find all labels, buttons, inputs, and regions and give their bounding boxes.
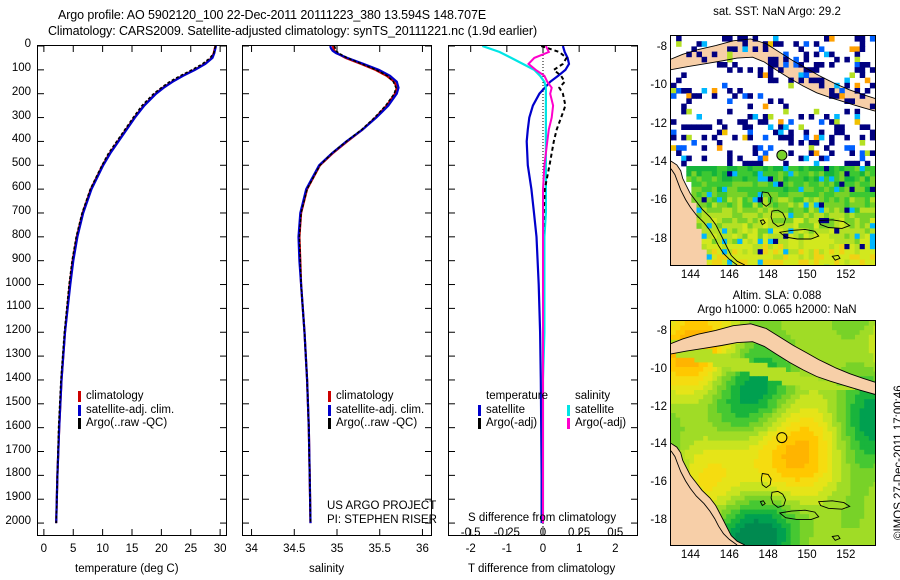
sla-map-svg bbox=[671, 321, 875, 545]
legend-item-argo-salinity: Argo(..raw -QC) bbox=[328, 417, 424, 431]
legend-label-argo: Argo(..raw -QC) bbox=[86, 417, 167, 431]
legend-item-salinity-argo: Argo(-adj) bbox=[567, 417, 626, 431]
legend-label-argo: Argo(..raw -QC) bbox=[336, 417, 417, 431]
sst-map-panel bbox=[670, 35, 876, 266]
sst-map-svg bbox=[671, 36, 875, 265]
sla-map-title-line1: Altim. SLA: 0.088 bbox=[672, 290, 882, 302]
legend-swatch-salinity-argo bbox=[567, 418, 570, 429]
legend-item-argo: Argo(..raw -QC) bbox=[78, 417, 174, 431]
temperature-x-axis-label: temperature (deg C) bbox=[75, 563, 179, 575]
legend-swatch-argo bbox=[78, 418, 81, 429]
sla-map-title-line2: Argo h1000: 0.065 h2000: NaN bbox=[672, 304, 882, 316]
legend-label-temperature-argo: Argo(-adj) bbox=[486, 417, 537, 431]
salinity-x-axis-label: salinity bbox=[309, 563, 344, 575]
legend-label-salinity-argo: Argo(-adj) bbox=[575, 417, 626, 431]
legend-swatch-temperature-argo bbox=[478, 418, 481, 429]
figure-title-line2: Climatology: CARS2009. Satellite-adjuste… bbox=[48, 24, 537, 38]
copyright-text: ©IMOS 27-Dec-2011 17:00:46 bbox=[893, 385, 900, 540]
figure-title-line1: Argo profile: AO 5902120_100 22-Dec-2011… bbox=[58, 8, 486, 22]
copyright-watermark: ©IMOS 27-Dec-2011 17:00:46 bbox=[893, 540, 900, 552]
legend-item-temperature-argo: Argo(-adj) bbox=[478, 417, 548, 431]
argo-project-line1: US ARGO PROJECT bbox=[327, 500, 437, 514]
sst-map-title: sat. SST: NaN Argo: 29.2 bbox=[672, 6, 882, 18]
sla-map-panel bbox=[670, 320, 876, 546]
legend-swatch-argo bbox=[328, 418, 331, 429]
difference-bottom-axis-label: T difference from climatology bbox=[468, 563, 615, 575]
